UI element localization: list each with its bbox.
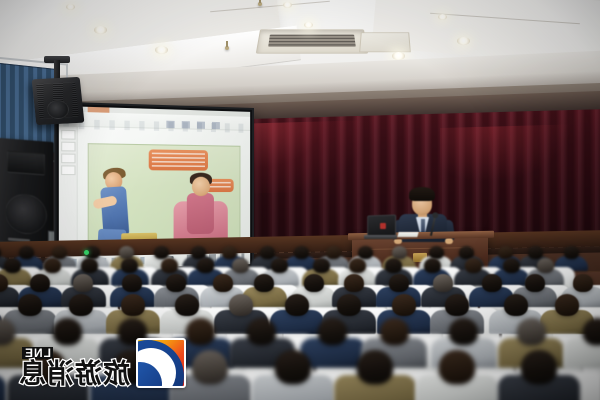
- audience-head: [271, 258, 288, 273]
- audience-head: [52, 246, 67, 259]
- audience-head: [380, 318, 409, 345]
- audience-head: [232, 258, 249, 273]
- audience-head: [166, 274, 186, 292]
- slide-thumbnail: [61, 153, 75, 163]
- toolbar-text-group: [166, 121, 226, 130]
- audience-head: [389, 274, 409, 292]
- audience-head: [254, 274, 274, 292]
- audience-head: [449, 318, 478, 345]
- audience-head: [44, 258, 61, 273]
- audience-head: [18, 294, 42, 316]
- slide-thumbnail: [61, 142, 75, 152]
- presenter-hand: [445, 238, 453, 244]
- presenter-hair: [409, 187, 435, 201]
- audience-head: [247, 318, 276, 345]
- audience-head: [69, 294, 93, 316]
- presenter-laptop: [366, 215, 396, 239]
- audience-head: [439, 350, 475, 384]
- audience-head: [121, 294, 145, 316]
- audience-head: [73, 274, 93, 292]
- audience-head: [197, 258, 214, 273]
- ceiling-downlight-icon: [155, 46, 168, 54]
- audience-head: [294, 246, 309, 259]
- slide-thumbnail: [61, 130, 75, 140]
- laptop-base: [364, 235, 397, 239]
- watermark-logo-icon: [136, 338, 186, 388]
- audience-head: [344, 274, 364, 292]
- audience-head: [260, 246, 275, 259]
- speech-bubble: [149, 149, 208, 170]
- ceiling-downlight-icon: [457, 37, 470, 45]
- audience-head: [326, 246, 341, 259]
- watermark-maintext: 旅游消息: [18, 361, 130, 388]
- audience-head: [122, 274, 142, 292]
- pa-speaker-icon: [0, 138, 54, 250]
- ceiling-downlight-icon: [66, 4, 75, 10]
- ceiling-downlight-icon: [283, 2, 292, 8]
- laptop-logo-icon: [380, 223, 386, 229]
- audience-head: [385, 258, 402, 273]
- paper-documents: [397, 232, 418, 237]
- audience-head: [583, 318, 600, 345]
- audience-head: [175, 294, 199, 316]
- audience-head: [504, 294, 528, 316]
- ceiling-downlight-icon: [438, 14, 447, 20]
- audience-head: [358, 246, 373, 259]
- sprinkler-icon: [258, 2, 262, 6]
- audience-head: [121, 258, 138, 273]
- audience-head: [81, 258, 98, 273]
- audience-head: [573, 274, 593, 292]
- watermark-text-block: LNE 旅游消息: [18, 347, 130, 388]
- audience-head: [275, 350, 311, 384]
- audience-head: [318, 318, 347, 345]
- presenter-tie: [421, 219, 425, 232]
- audience-head: [525, 274, 545, 292]
- audience-head: [19, 246, 34, 259]
- slide-thumbnail-pane: [59, 126, 78, 252]
- audience-head: [285, 294, 309, 316]
- audience-head: [30, 274, 50, 292]
- audience-head: [521, 350, 557, 384]
- slide-thumbnail: [61, 165, 75, 175]
- audience-head: [161, 258, 178, 273]
- watermark: LNE 旅游消息: [18, 322, 194, 388]
- audience-head: [445, 294, 469, 316]
- audience-head: [357, 350, 393, 384]
- cartoon-figure-body: [187, 193, 214, 234]
- sprinkler-icon: [225, 46, 229, 50]
- ac-vent-icon: [256, 29, 369, 53]
- ceiling-downlight-icon: [94, 26, 107, 34]
- ceiling-speaker-icon: [32, 77, 85, 125]
- audience-head: [213, 274, 233, 292]
- audience-head: [192, 350, 228, 384]
- ceiling-downlight-icon: [304, 22, 313, 28]
- audience-head: [154, 246, 169, 259]
- audience-head: [313, 258, 330, 273]
- audience-head: [482, 274, 502, 292]
- audience-head: [337, 294, 361, 316]
- audience-head: [528, 246, 543, 259]
- audience-head: [517, 318, 546, 345]
- audience-head: [392, 294, 416, 316]
- audience-head: [555, 294, 579, 316]
- audience-head: [4, 258, 21, 273]
- audience-head: [503, 258, 520, 273]
- audience-head: [465, 258, 482, 273]
- speaker-woofer: [5, 192, 47, 235]
- photo-scene: 1-21-31-42-22-32-53-13-23-44-24-35-1 LNE…: [0, 0, 600, 400]
- audience-head: [537, 258, 554, 273]
- watermark-subtext: LNE: [22, 347, 53, 359]
- audience-head: [433, 274, 453, 292]
- speaker-horn: [7, 151, 45, 176]
- slide-canvas: [88, 143, 241, 241]
- audience-head: [119, 246, 134, 259]
- audience-head: [424, 258, 441, 273]
- audience-head: [229, 294, 253, 316]
- ceiling-access-panel: [359, 32, 411, 52]
- audience-head: [304, 274, 324, 292]
- audience-head: [349, 258, 366, 273]
- cartoon-figure-head: [192, 177, 210, 196]
- status-led-green: [84, 250, 89, 255]
- audience-head: [564, 246, 579, 259]
- audience-head: [222, 246, 237, 259]
- speech-bubble-text: [152, 153, 205, 168]
